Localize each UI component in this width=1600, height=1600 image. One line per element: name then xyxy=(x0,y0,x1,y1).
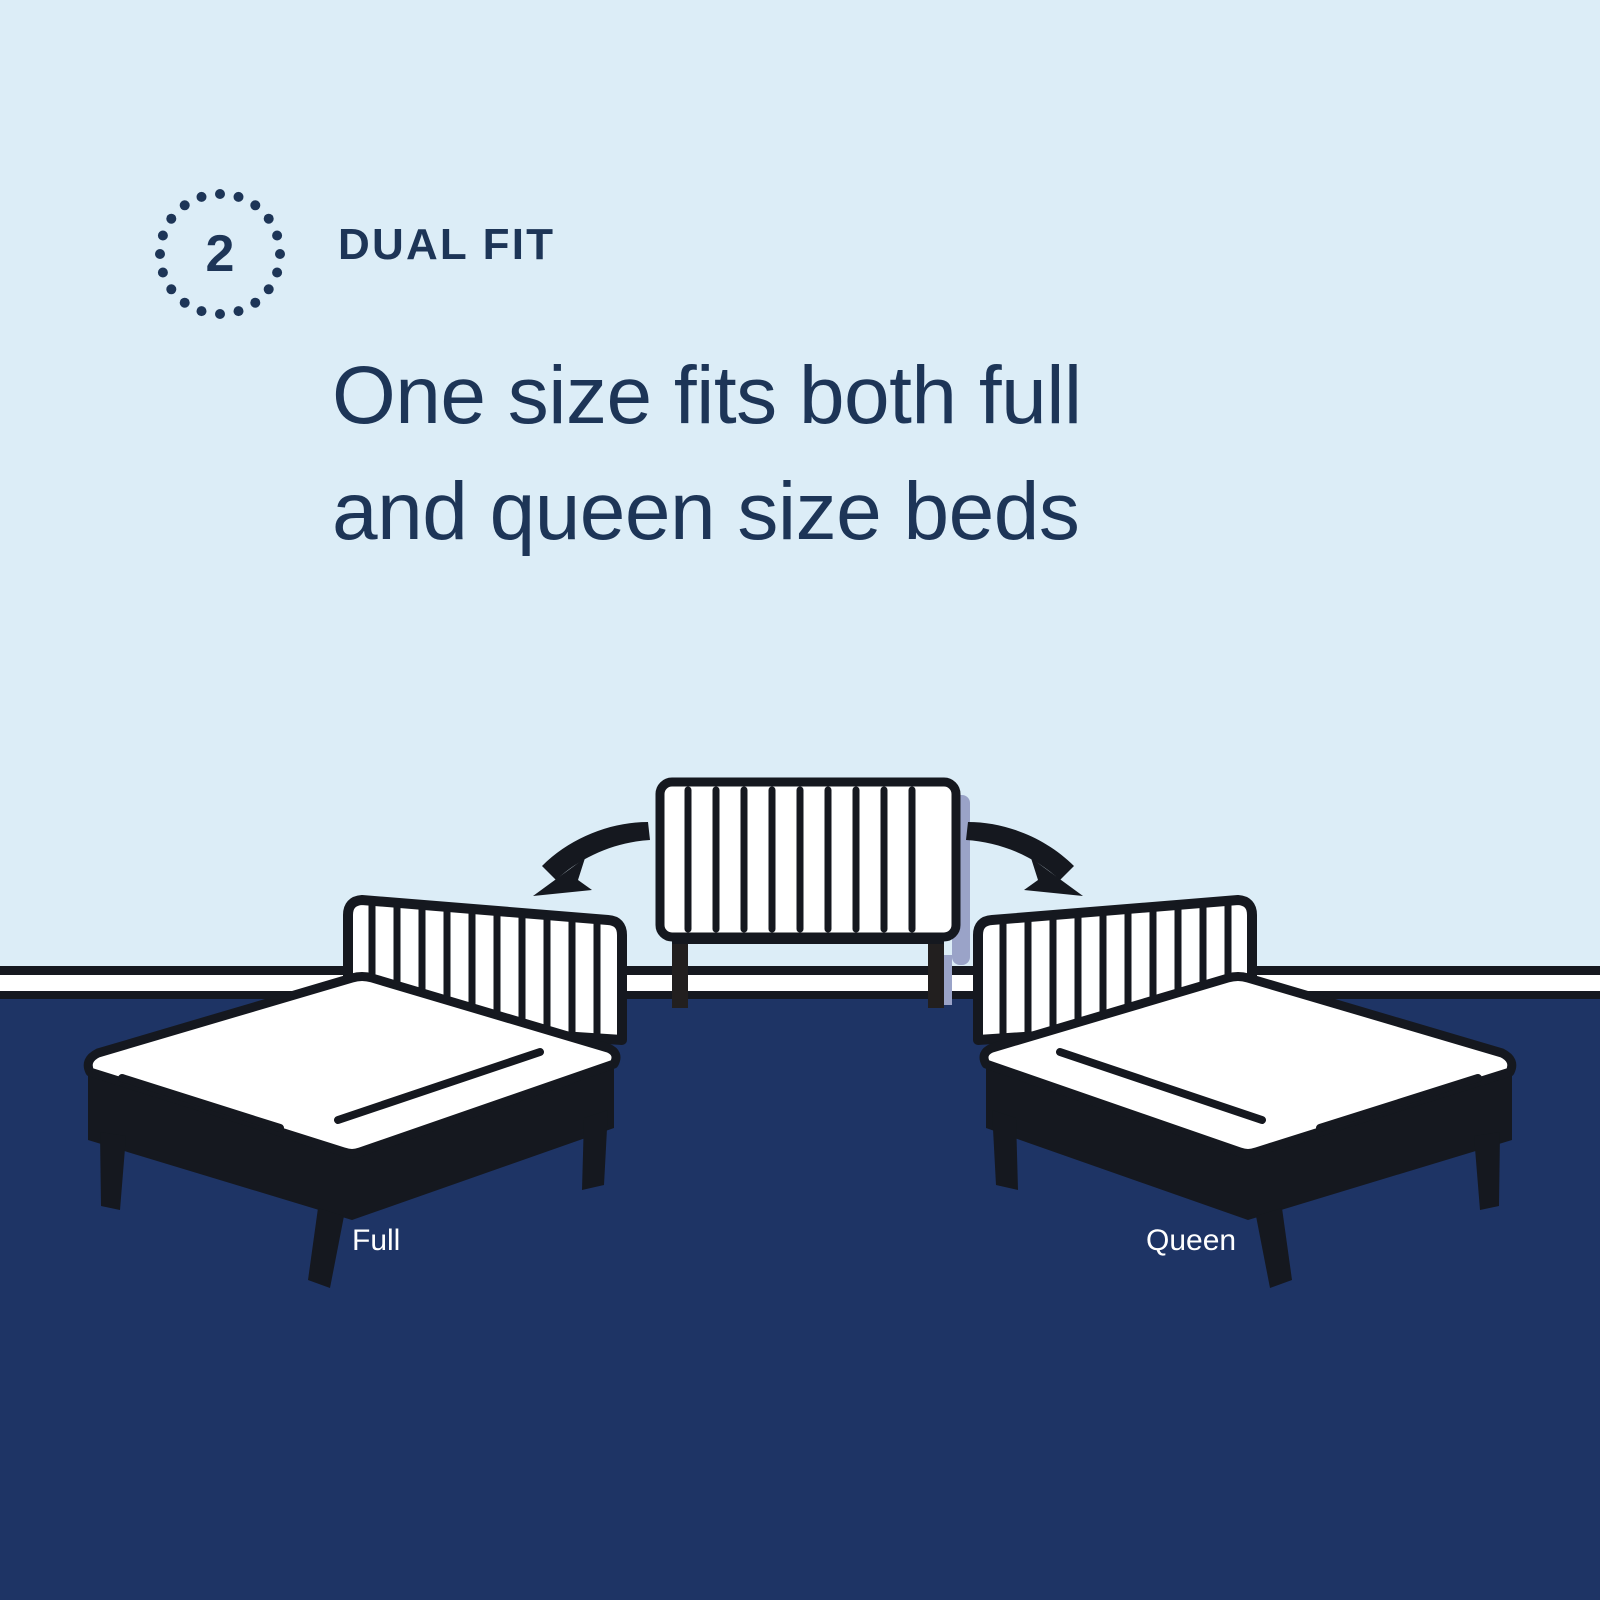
headline-line-2: and queen size beds xyxy=(332,454,1392,570)
bed-full-leg-right xyxy=(582,1110,608,1190)
bed-label-queen: Queen xyxy=(1146,1224,1236,1258)
infographic-card: 2 DUAL FIT One size fits both full and q… xyxy=(0,0,1600,1600)
bed-label-full: Full xyxy=(352,1224,400,1258)
page-headline: One size fits both full and queen size b… xyxy=(332,338,1392,571)
baseboard-band xyxy=(0,975,1600,991)
step-number: 2 xyxy=(152,186,288,322)
baseboard-top-line xyxy=(0,966,1600,975)
baseboard-bottom-line xyxy=(0,991,1600,999)
step-badge-row: 2 DUAL FIT xyxy=(152,186,1052,326)
headline-line-1: One size fits both full xyxy=(332,338,1392,454)
dotted-circle-icon: 2 xyxy=(152,186,288,322)
bed-queen-leg-left xyxy=(992,1110,1018,1190)
section-eyebrow: DUAL FIT xyxy=(338,220,555,270)
